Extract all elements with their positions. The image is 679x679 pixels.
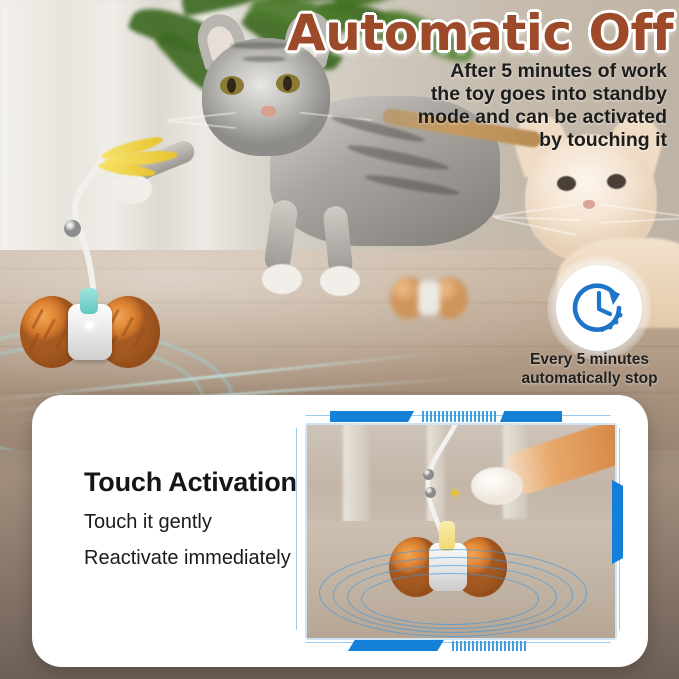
badge-circle <box>556 265 642 351</box>
frame-ticks-bottom <box>452 641 526 651</box>
headline-description: After 5 minutes of work the toy goes int… <box>267 60 667 152</box>
page-title: Automatic Off <box>287 4 673 62</box>
secondary-toy-blurred <box>390 277 468 319</box>
frame-bar-bottom-left <box>348 640 444 651</box>
frame-bar-right <box>612 480 623 564</box>
product-marketing-image: Automatic Off After 5 minutes of work th… <box>0 0 679 679</box>
timer-badge <box>556 265 642 351</box>
subcopy-line-4: by touching it <box>267 129 667 152</box>
feather-wand <box>38 146 138 306</box>
frame-ticks-top <box>422 411 496 422</box>
timer-badge-caption: Every 5 minutes automatically stop <box>500 350 679 388</box>
subcopy-line-2: the toy goes into standby <box>267 83 667 106</box>
toy-wand-socket <box>80 288 98 314</box>
subcopy-line-1: After 5 minutes of work <box>267 60 667 83</box>
badge-caption-line-1: Every 5 minutes <box>500 350 679 369</box>
frame-bar-top-right <box>500 411 562 422</box>
subcopy-line-3: mode and can be activated <box>267 106 667 129</box>
frame-bar-top-left <box>330 411 414 422</box>
toy-led-indicator <box>86 322 93 329</box>
inset-photo-block: ✦ <box>296 408 622 651</box>
inset-frame-outline <box>296 415 620 643</box>
badge-caption-line-2: automatically stop <box>500 369 679 388</box>
clock-timer-icon <box>569 278 629 338</box>
cat-toy-product <box>20 296 160 370</box>
